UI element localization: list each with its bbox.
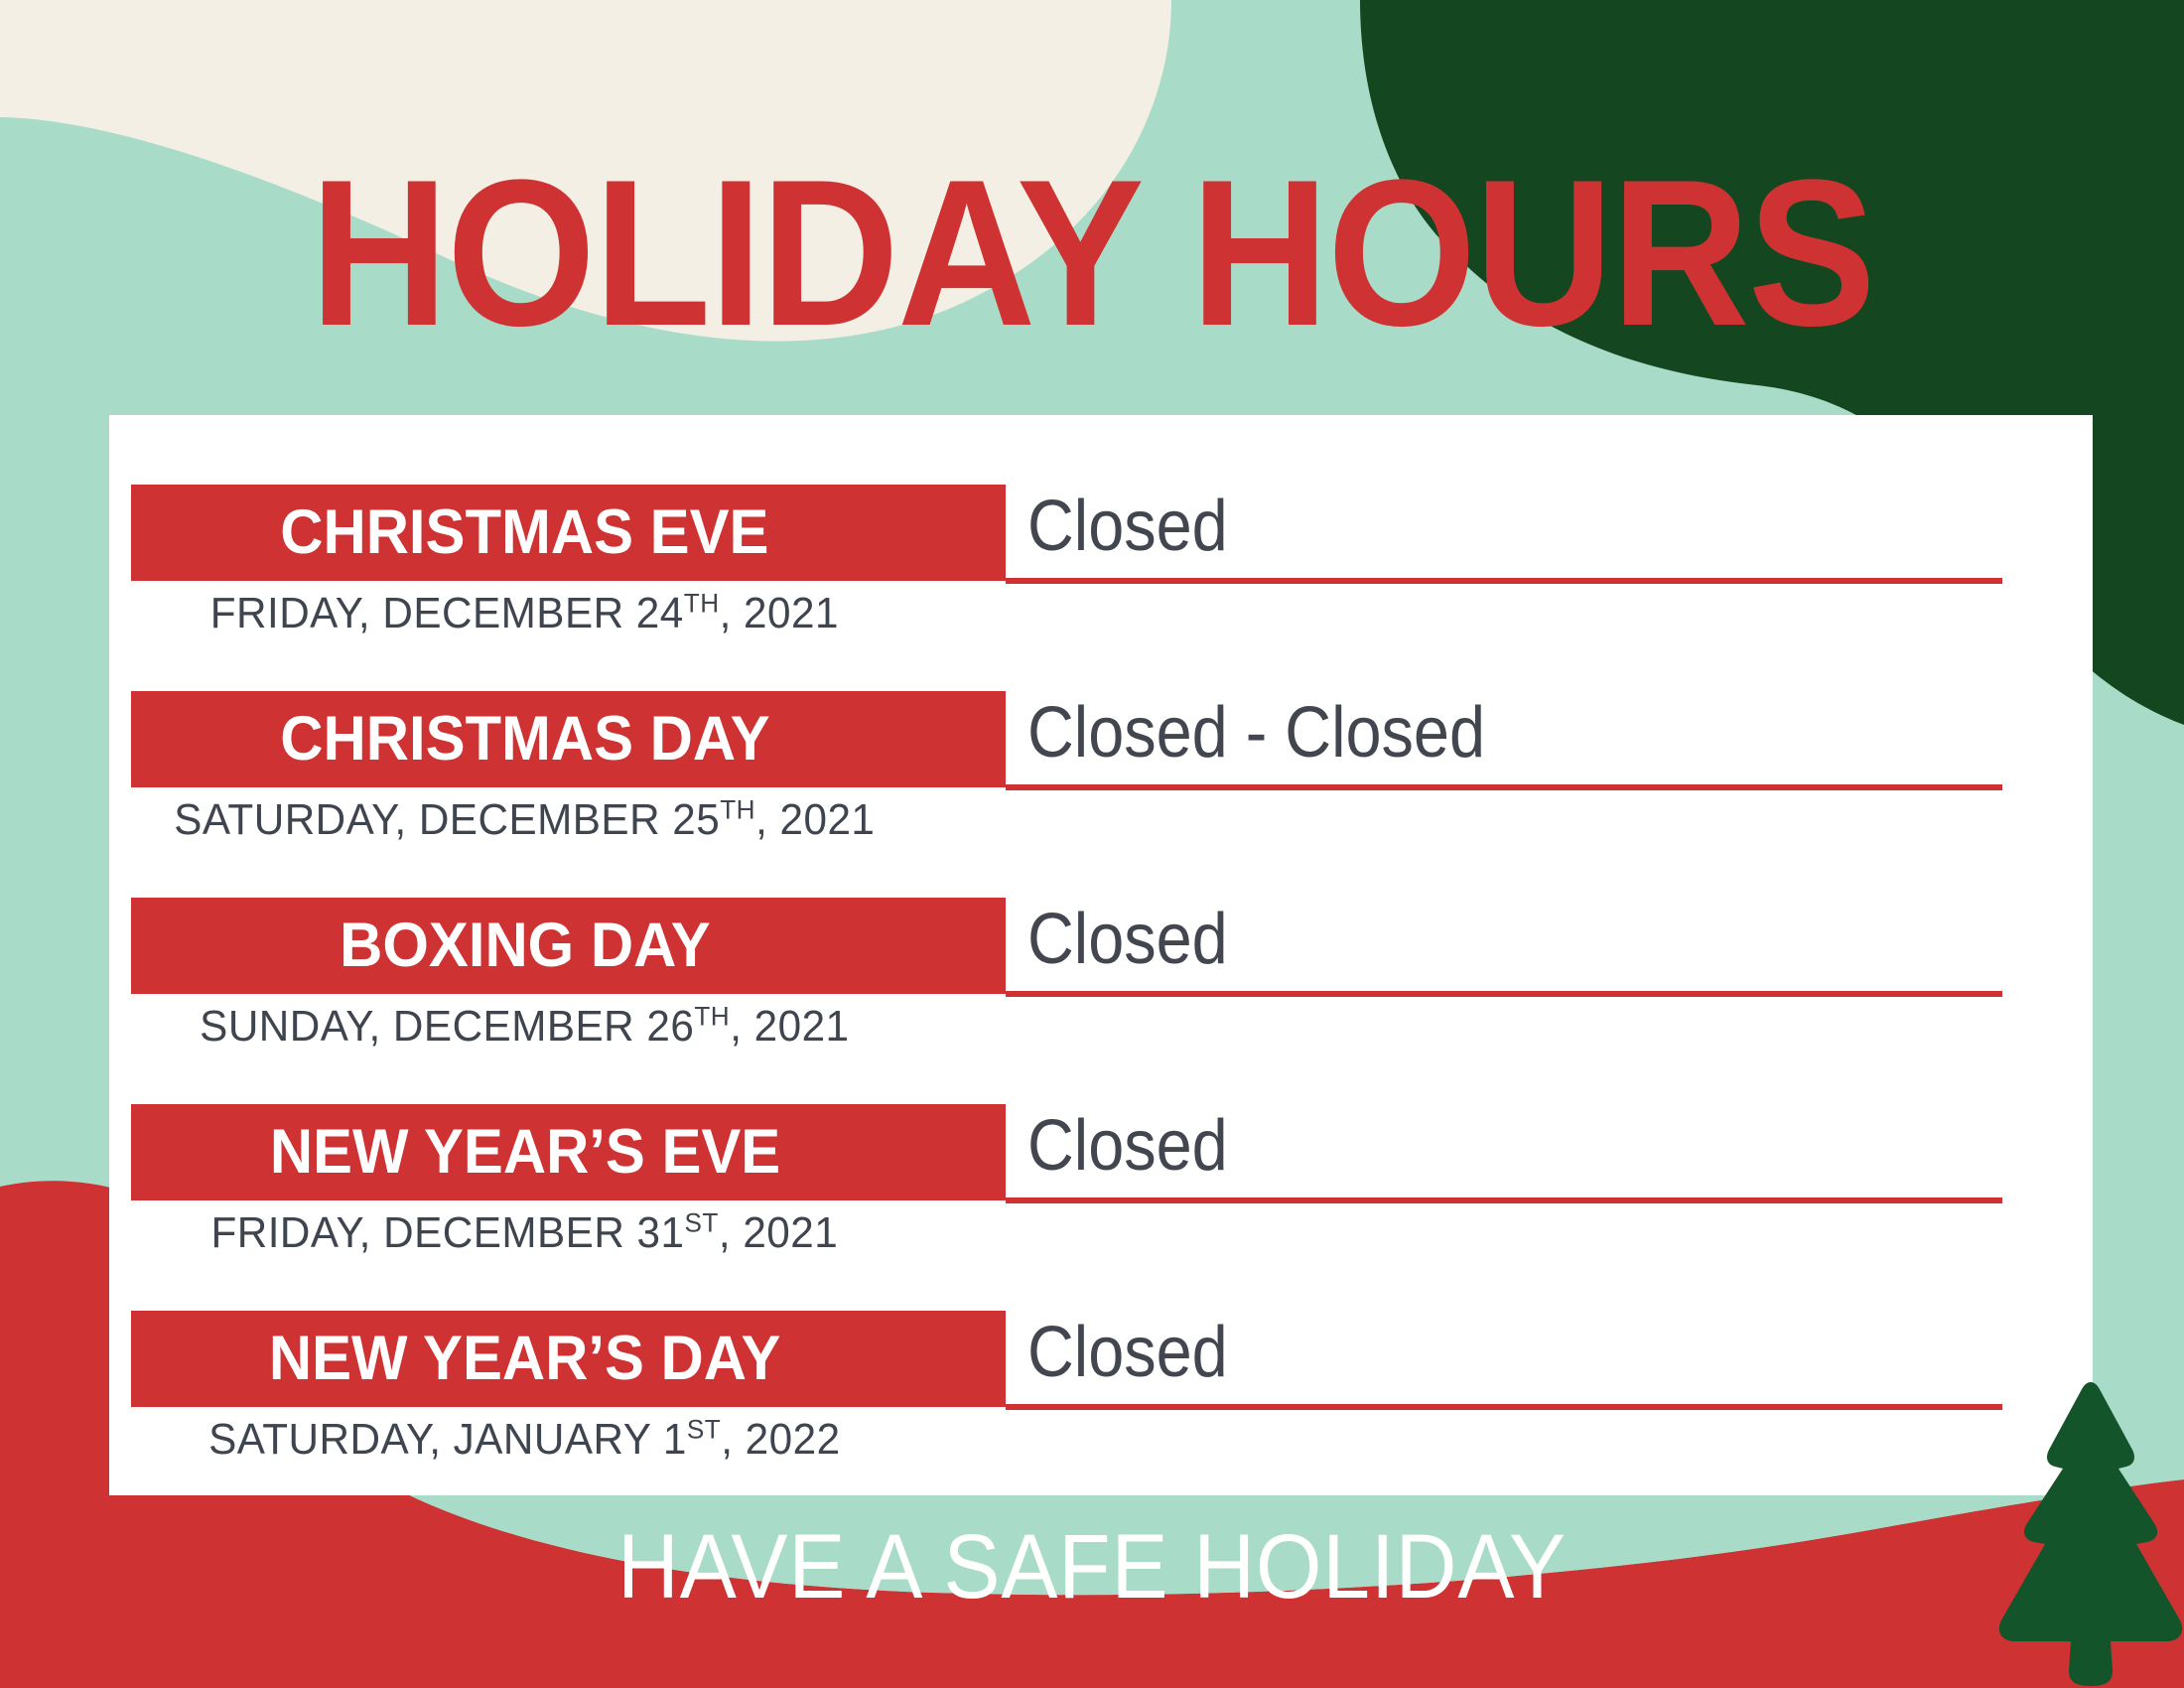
date-suffix: , 2022 <box>721 1415 840 1464</box>
hours-underline <box>1006 1197 2002 1203</box>
schedule-row: CHRISTMAS DAY SATURDAY, DECEMBER 25TH, 2… <box>109 691 2093 898</box>
hours-cell: Closed - Closed <box>1027 683 2020 782</box>
date-ordinal: ST <box>684 1206 718 1237</box>
date-ordinal: TH <box>720 793 755 824</box>
hours-cell: Closed <box>1027 477 2020 576</box>
date-prefix: SUNDAY, DECEMBER 26 <box>200 1002 694 1051</box>
date-prefix: SATURDAY, JANUARY 1 <box>208 1415 687 1464</box>
hours-value: Closed <box>1027 1303 1921 1402</box>
schedule-card: CHRISTMAS EVE FRIDAY, DECEMBER 24TH, 202… <box>109 415 2093 1495</box>
hours-underline <box>1006 784 2002 790</box>
date-suffix: , 2021 <box>720 589 839 637</box>
holiday-date-label: SUNDAY, DECEMBER 26TH, 2021 <box>149 999 989 1055</box>
date-ordinal: TH <box>684 587 720 618</box>
holiday-name-label: NEW YEAR’S EVE <box>270 1121 868 1184</box>
holiday-name-banner: CHRISTMAS DAY <box>131 691 1006 787</box>
hours-underline <box>1006 1404 2002 1410</box>
date-prefix: FRIDAY, DECEMBER 24 <box>210 589 684 637</box>
hours-underline <box>1006 578 2002 584</box>
date-ordinal: ST <box>687 1413 721 1444</box>
holiday-name-banner: BOXING DAY <box>131 898 1006 994</box>
holiday-name-label: CHRISTMAS EVE <box>281 501 857 564</box>
holiday-date-label: FRIDAY, DECEMBER 31ST, 2021 <box>149 1205 989 1261</box>
date-prefix: FRIDAY, DECEMBER 31 <box>210 1208 684 1257</box>
holiday-name-label: NEW YEAR’S DAY <box>269 1328 868 1390</box>
holiday-date-label: SATURDAY, DECEMBER 25TH, 2021 <box>149 792 989 848</box>
schedule-row: CHRISTMAS EVE FRIDAY, DECEMBER 24TH, 202… <box>109 485 2093 691</box>
hours-cell: Closed <box>1027 890 2020 989</box>
date-suffix: , 2021 <box>719 1208 838 1257</box>
hours-cell: Closed <box>1027 1096 2020 1196</box>
schedule-row: BOXING DAY SUNDAY, DECEMBER 26TH, 2021 C… <box>109 898 2093 1104</box>
holiday-name-banner: NEW YEAR’S EVE <box>131 1104 1006 1200</box>
holiday-date-label: FRIDAY, DECEMBER 24TH, 2021 <box>149 586 989 641</box>
hours-underline <box>1006 991 2002 997</box>
date-suffix: , 2021 <box>755 795 875 844</box>
date-suffix: , 2021 <box>730 1002 849 1051</box>
holiday-name-banner: CHRISTMAS EVE <box>131 485 1006 581</box>
footer-message: HAVE A SAFE HOLIDAY <box>76 1517 2108 1617</box>
holiday-date-label: SATURDAY, JANUARY 1ST, 2022 <box>149 1412 989 1468</box>
holiday-name-banner: NEW YEAR’S DAY <box>131 1311 1006 1407</box>
schedule-row: NEW YEAR’S DAY SATURDAY, JANUARY 1ST, 20… <box>109 1311 2093 1517</box>
hours-value: Closed - Closed <box>1027 683 1921 782</box>
schedule-row: NEW YEAR’S EVE FRIDAY, DECEMBER 31ST, 20… <box>109 1104 2093 1311</box>
page-title: HOLIDAY HOURS <box>87 149 2097 357</box>
hours-value: Closed <box>1027 890 1921 989</box>
hours-value: Closed <box>1027 477 1921 576</box>
date-ordinal: TH <box>694 1000 730 1031</box>
hours-cell: Closed <box>1027 1303 2020 1402</box>
holiday-hours-poster: HOLIDAY HOURS CHRISTMAS EVE FRIDAY, DECE… <box>0 0 2184 1688</box>
date-prefix: SATURDAY, DECEMBER 25 <box>174 795 720 844</box>
hours-value: Closed <box>1027 1096 1921 1196</box>
holiday-name-label: CHRISTMAS DAY <box>280 708 857 771</box>
holiday-name-label: BOXING DAY <box>340 914 797 977</box>
